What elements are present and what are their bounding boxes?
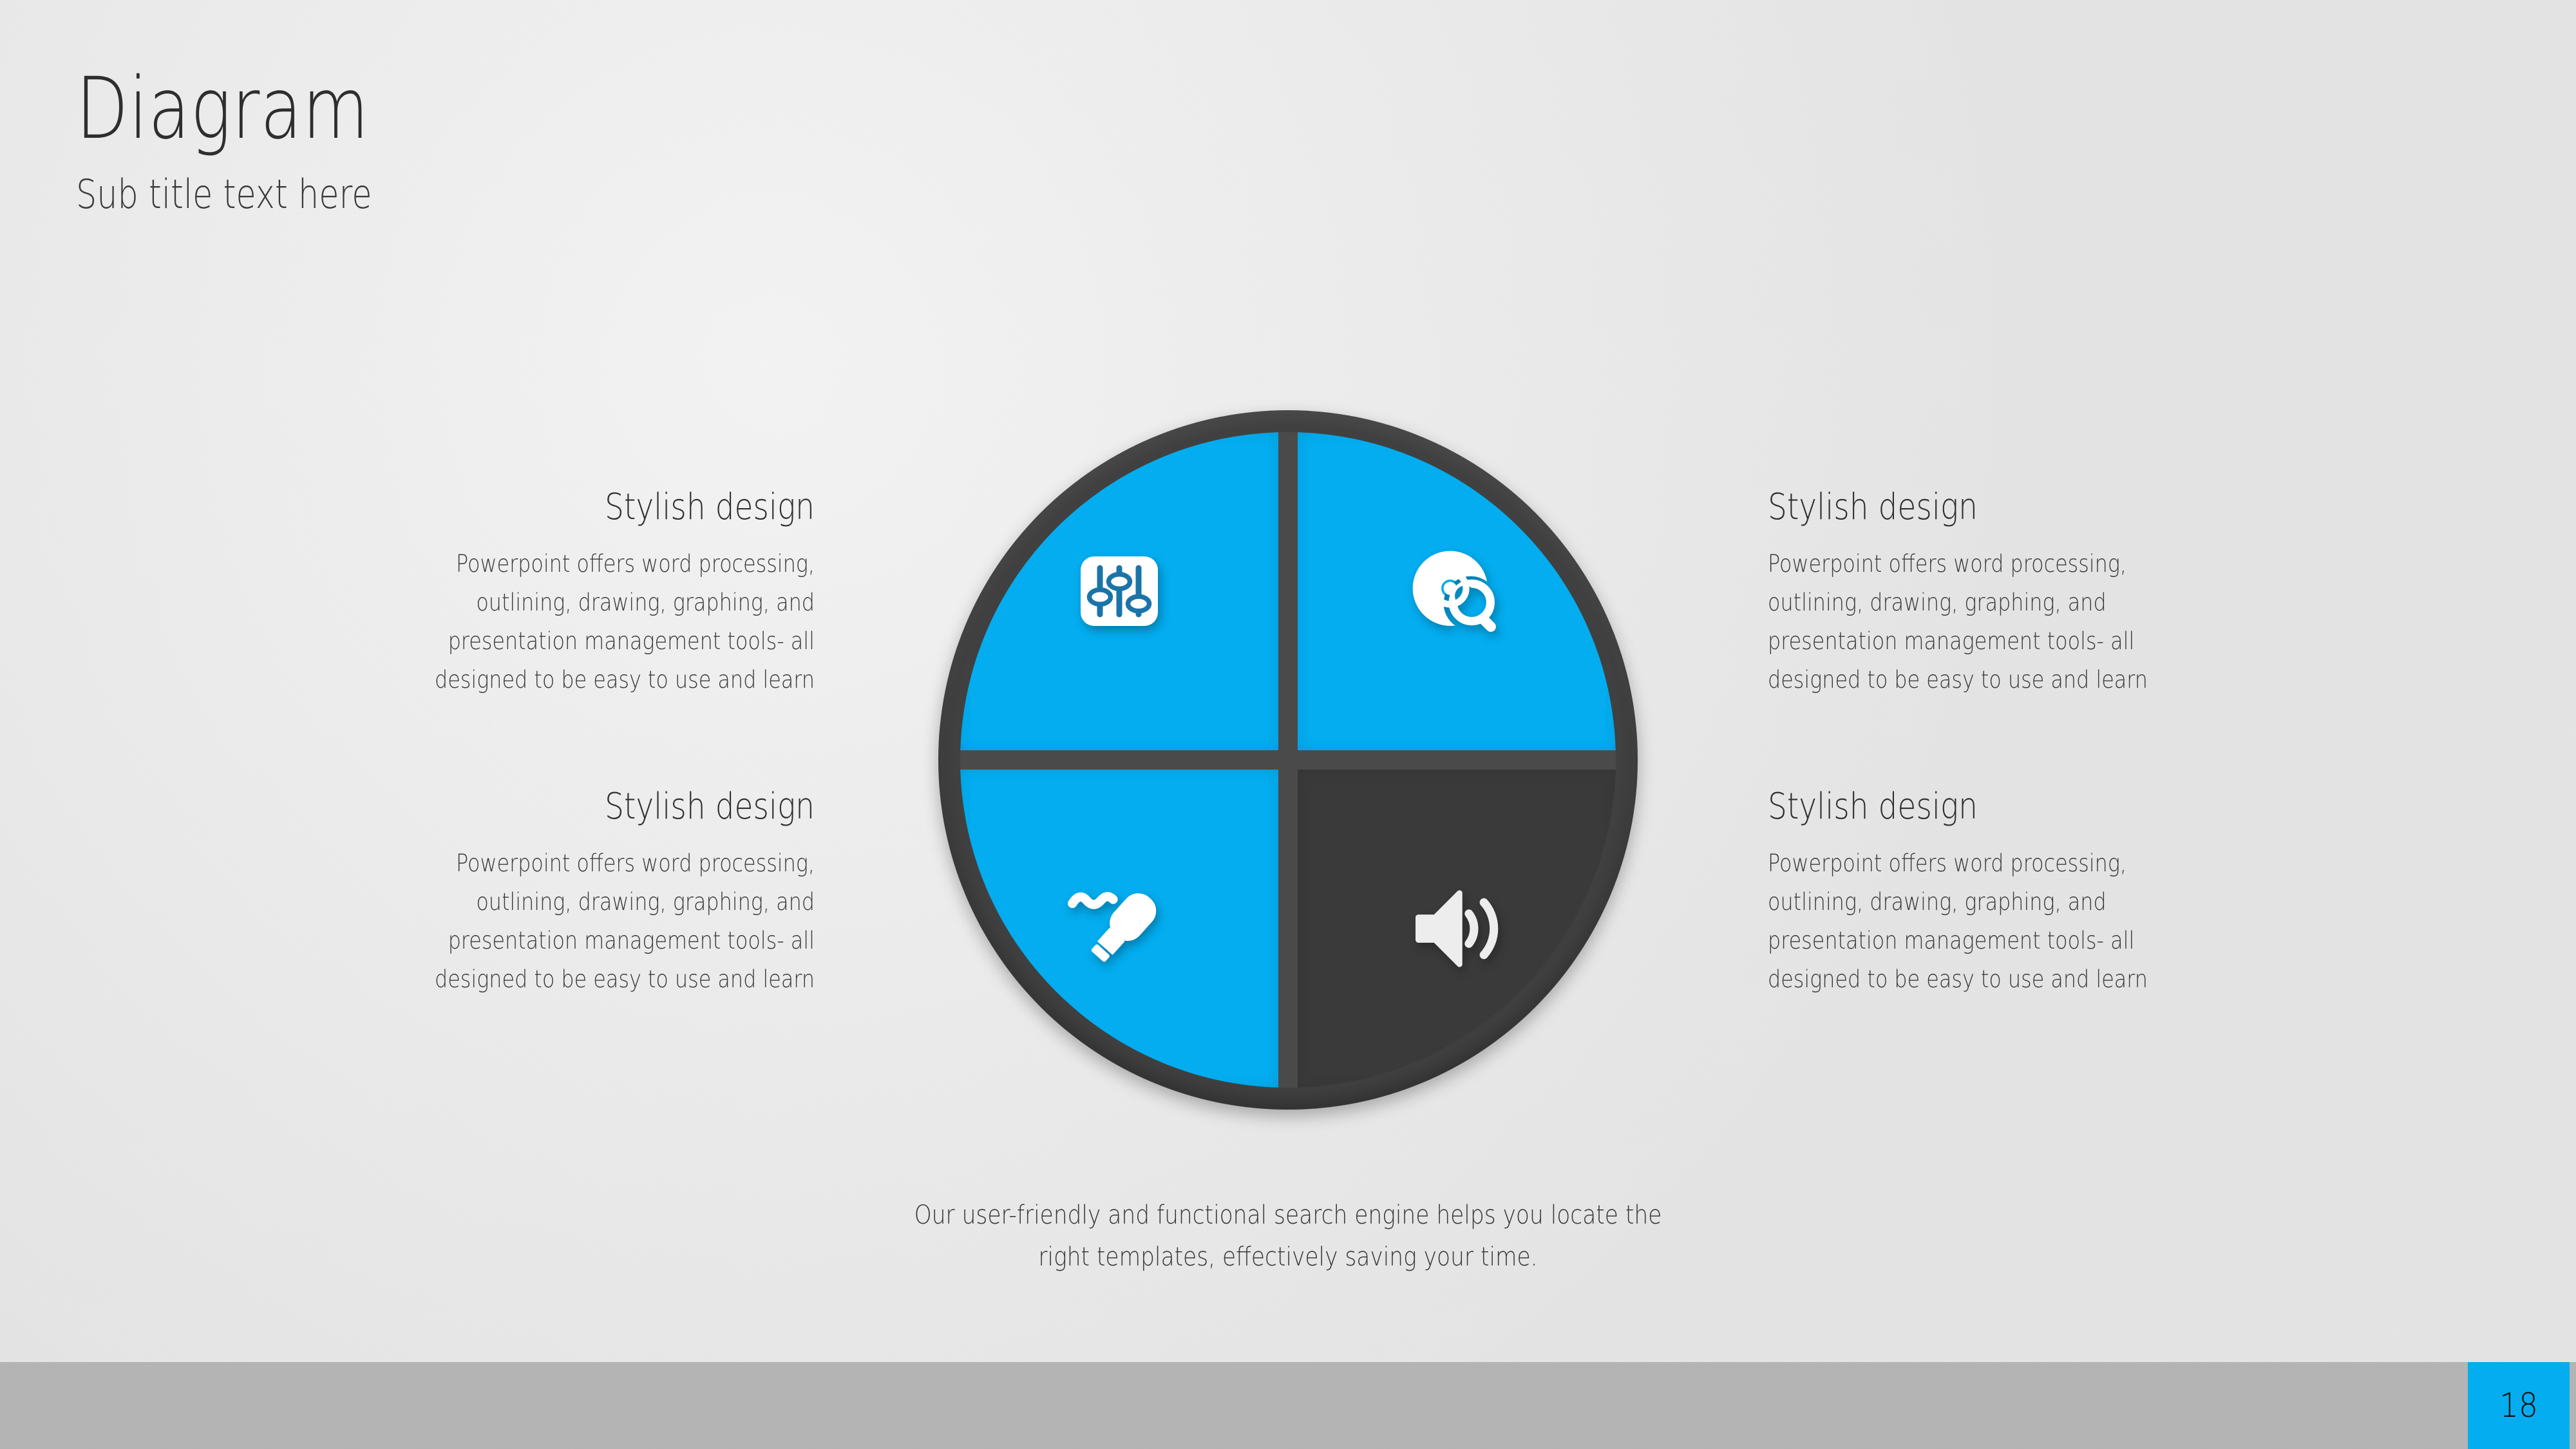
info-block-top-right: Stylish design Powerpoint offers word pr… [1768,489,2219,699]
info-block-bottom-right: Stylish design Powerpoint offers word pr… [1768,789,2219,999]
info-block-heading: Stylish design [1768,489,2146,526]
caption-line-1: Our user-friendly and functional search … [845,1195,1731,1236]
page-number: 18 [2499,1387,2538,1425]
info-block-body: Powerpoint offers word processing, outli… [427,545,815,699]
equalizer-sliders-icon [960,432,1278,750]
page-number-badge: 18 [2468,1362,2570,1449]
info-block-bottom-left: Stylish design Powerpoint offers word pr… [364,789,815,999]
quadrant-top-left[interactable] [960,432,1278,750]
disc-search-icon [1298,432,1616,750]
info-block-top-left: Stylish design Powerpoint offers word pr… [364,489,815,699]
page-subtitle: Sub title text here [76,173,921,216]
slide-canvas: Diagram Sub title text here Stylish desi… [0,0,2576,1449]
page-title: Diagram [76,64,900,155]
speaker-volume-icon [1298,770,1616,1088]
quadrant-circle-diagram [938,410,1638,1110]
audio-jack-icon [960,770,1278,1088]
footer-bar: 18 [0,1362,2576,1449]
info-block-heading: Stylish design [1768,789,2146,825]
quadrant-top-right[interactable] [1298,432,1616,750]
info-block-heading: Stylish design [436,789,815,825]
quadrant-bottom-right[interactable] [1298,770,1616,1088]
info-block-body: Powerpoint offers word processing, outli… [1768,545,2155,699]
info-block-body: Powerpoint offers word processing, outli… [1768,844,2155,999]
info-block-body: Powerpoint offers word processing, outli… [427,844,815,999]
info-block-heading: Stylish design [436,489,815,526]
quadrant-bottom-left[interactable] [960,770,1278,1088]
diagram-inner-disc [960,432,1616,1088]
diagram-caption: Our user-friendly and functional search … [773,1195,1803,1278]
caption-line-2: right templates, effectively saving your… [845,1236,1731,1278]
slide-header: Diagram Sub title text here [76,64,1106,216]
